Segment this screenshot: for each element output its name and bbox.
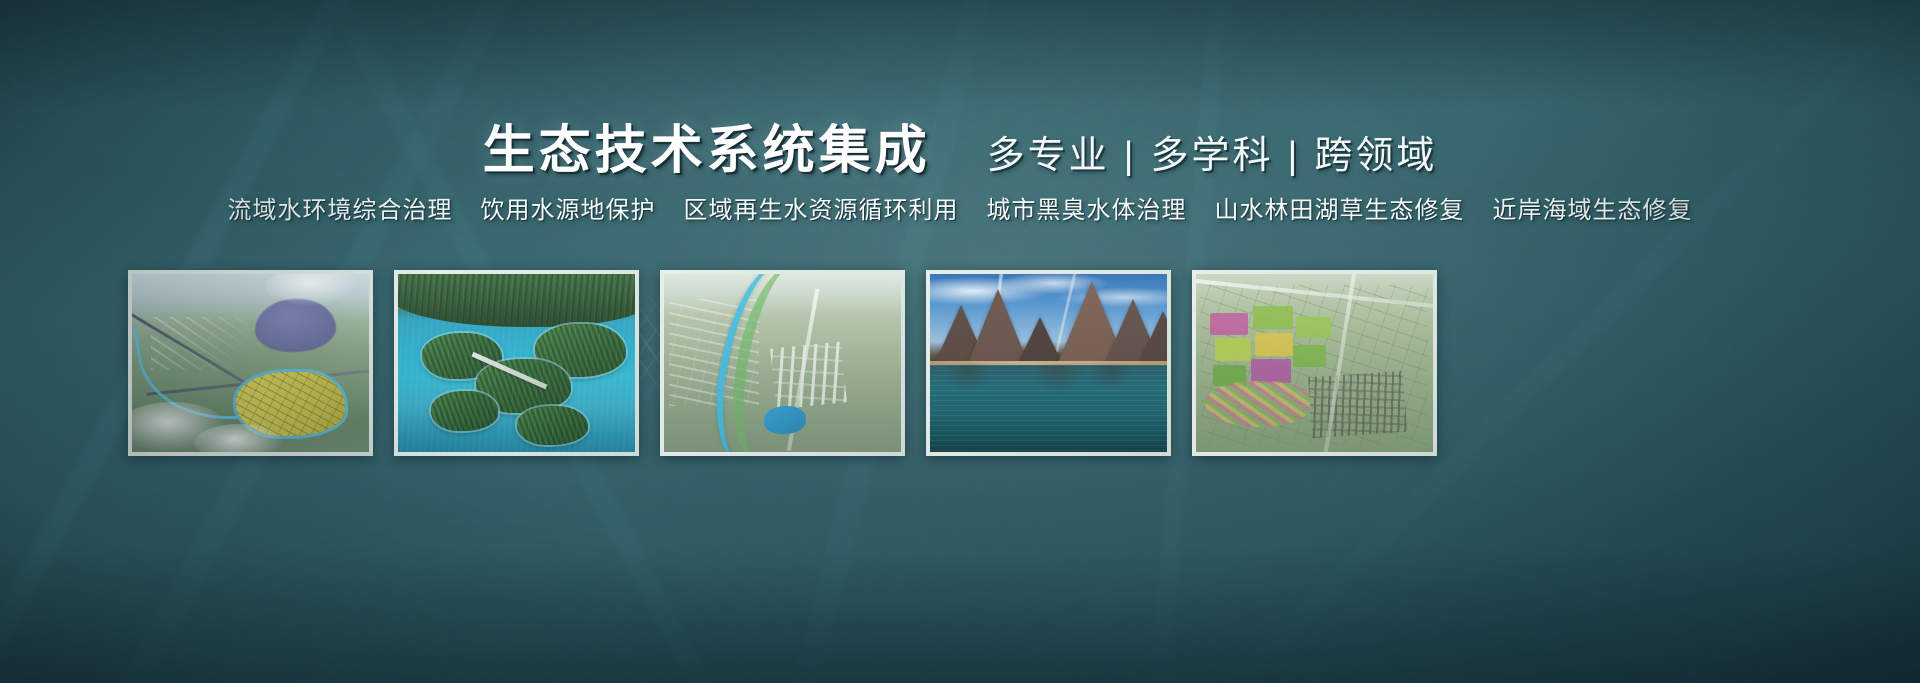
thumbnail-image-basin-aerial-masterplan (132, 274, 369, 452)
mosaic-field-6 (1251, 359, 1291, 382)
mountain-lake-artwork (930, 274, 1167, 452)
subtitle-separator-2: | (1274, 135, 1315, 177)
subtitle-separator-1: | (1110, 135, 1151, 177)
headline-row: 生态技术系统集成 多专业|多学科|跨领域 (0, 108, 1920, 183)
project-thumbnail-1[interactable] (128, 270, 373, 456)
landuse-mosaic-artwork (1196, 274, 1433, 452)
lake-mountain-peak-6 (1139, 311, 1167, 363)
tagline-item-1: 流域水环境综合治理 (214, 190, 467, 225)
mosaic-field-1 (1210, 313, 1248, 334)
corridor-building-blocks (770, 342, 847, 410)
project-thumbnail-4[interactable] (926, 270, 1171, 456)
banner-headline: 生态技术系统集成 (483, 108, 931, 183)
mosaic-urban-cluster (1308, 370, 1407, 437)
island-water-shimmer (398, 274, 635, 452)
subtitle-part-3: 跨领域 (1314, 135, 1437, 177)
lake-mountain-peak-3 (1018, 317, 1062, 363)
hero-banner: 生态技术系统集成 多专业|多学科|跨领域 流域水环境综合治理 饮用水源地保护 区… (0, 0, 1920, 683)
project-thumbnail-strip (128, 270, 1794, 456)
mosaic-field-3 (1215, 338, 1251, 361)
island-lake-artwork (398, 274, 635, 452)
mosaic-field-7 (1296, 317, 1332, 338)
project-thumbnail-2[interactable] (394, 270, 639, 456)
mosaic-flower-belt (1205, 381, 1309, 427)
subtitle-part-1: 多专业 (987, 135, 1110, 177)
thumbnail-image-river-corridor-restoration (664, 274, 901, 452)
thumbnail-image-mountain-lake-reflection (930, 274, 1167, 452)
mosaic-field-8 (1293, 345, 1326, 366)
lake-mountain-reflection (930, 365, 1167, 418)
corridor-retention-pond (764, 406, 807, 434)
river-corridor-artwork (664, 274, 901, 452)
thumbnail-image-agricultural-landuse-mosaic (1196, 274, 1433, 452)
basin-aerial-artwork (132, 274, 369, 452)
mosaic-field-2 (1253, 306, 1293, 329)
tagline-item-5: 山水林田湖草生态修复 (1201, 190, 1479, 225)
mosaic-field-4 (1255, 333, 1293, 356)
banner-subtitle: 多专业|多学科|跨领域 (987, 124, 1438, 179)
thumbnail-image-island-lake-reservoir (398, 274, 635, 452)
subtitle-part-2: 多学科 (1151, 135, 1274, 177)
tagline-row: 流域水环境综合治理 饮用水源地保护 区域再生水资源循环利用 城市黑臭水体治理 山… (0, 190, 1920, 225)
tagline-item-2: 饮用水源地保护 (467, 190, 670, 225)
project-thumbnail-3[interactable] (660, 270, 905, 456)
tagline-item-3: 区域再生水资源循环利用 (670, 190, 973, 225)
project-thumbnail-5[interactable] (1192, 270, 1437, 456)
tagline-item-6: 近岸海域生态修复 (1479, 190, 1707, 225)
tagline-item-4: 城市黑臭水体治理 (973, 190, 1201, 225)
